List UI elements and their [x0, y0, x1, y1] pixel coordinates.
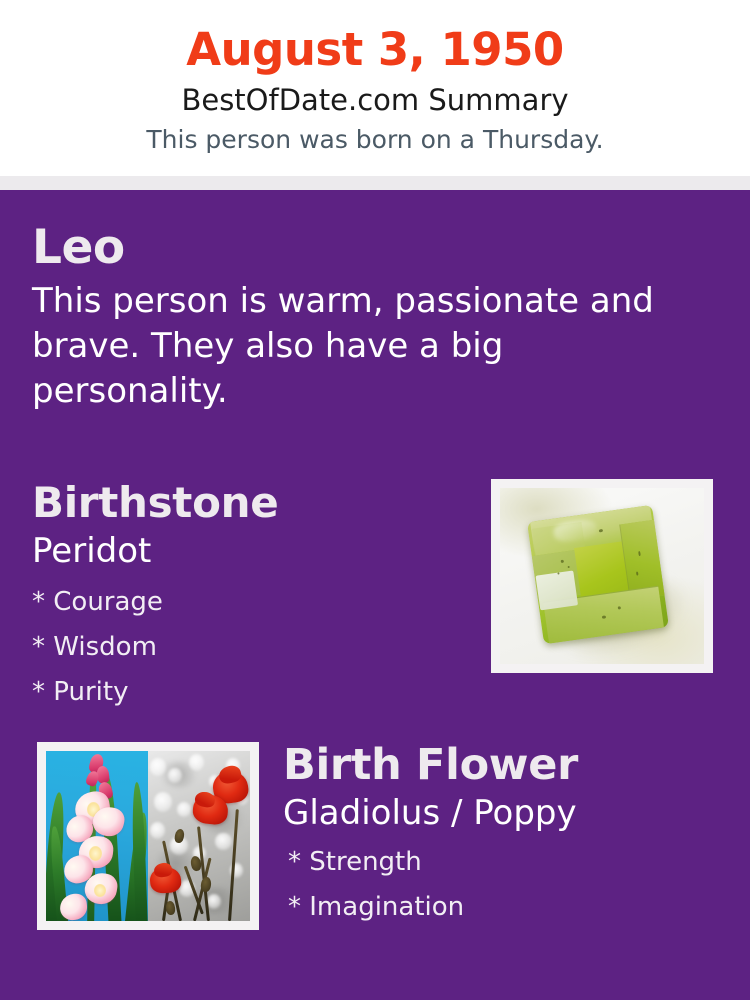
poppy-icon — [148, 751, 250, 921]
list-item: * Strength — [288, 840, 733, 885]
birth-flower-heading: Birth Flower — [283, 740, 733, 790]
birthstone-section: Birthstone Peridot * Courage * Wisdom * … — [32, 478, 462, 715]
gem-facet-highlight — [535, 570, 577, 609]
gem-inclusion — [636, 571, 639, 575]
gladiolus-icon — [46, 751, 148, 921]
birth-flower-image-frame — [37, 742, 259, 930]
birthstone-name: Peridot — [32, 530, 462, 572]
zodiac-sign-name: Leo — [32, 220, 692, 275]
birth-flower-photo — [46, 751, 250, 921]
birthstone-photo — [500, 488, 704, 664]
birth-flower-trait-list: * Strength * Imagination — [283, 840, 733, 930]
zodiac-description: This person is warm, passionate and brav… — [32, 279, 677, 414]
list-item: * Purity — [32, 670, 462, 715]
site-summary-label: BestOfDate.com Summary — [0, 78, 750, 122]
page-title: August 3, 1950 — [0, 22, 750, 78]
summary-panel: Leo This person is warm, passionate and … — [0, 190, 750, 1000]
header-divider — [0, 176, 750, 190]
birthstone-heading: Birthstone — [32, 478, 462, 528]
gem-inclusion — [618, 606, 621, 609]
list-item: * Wisdom — [32, 625, 462, 670]
list-item: * Imagination — [288, 885, 733, 930]
gem-inclusion — [567, 566, 569, 568]
birth-flower-name: Gladiolus / Poppy — [283, 792, 733, 834]
gem-inclusion — [560, 559, 563, 562]
peridot-crystal-icon — [527, 504, 669, 644]
gem-inclusion — [598, 529, 602, 533]
list-item: * Courage — [32, 580, 462, 625]
gem-inclusion — [557, 572, 559, 574]
born-weekday-text: This person was born on a Thursday. — [0, 122, 750, 158]
summary-header: August 3, 1950 BestOfDate.com Summary Th… — [0, 0, 750, 176]
flower-split-composite — [46, 751, 250, 921]
zodiac-section: Leo This person is warm, passionate and … — [32, 220, 692, 414]
birthstone-trait-list: * Courage * Wisdom * Purity — [32, 580, 462, 715]
birthstone-image-frame — [491, 479, 713, 673]
birth-flower-section: Birth Flower Gladiolus / Poppy * Strengt… — [283, 740, 733, 930]
